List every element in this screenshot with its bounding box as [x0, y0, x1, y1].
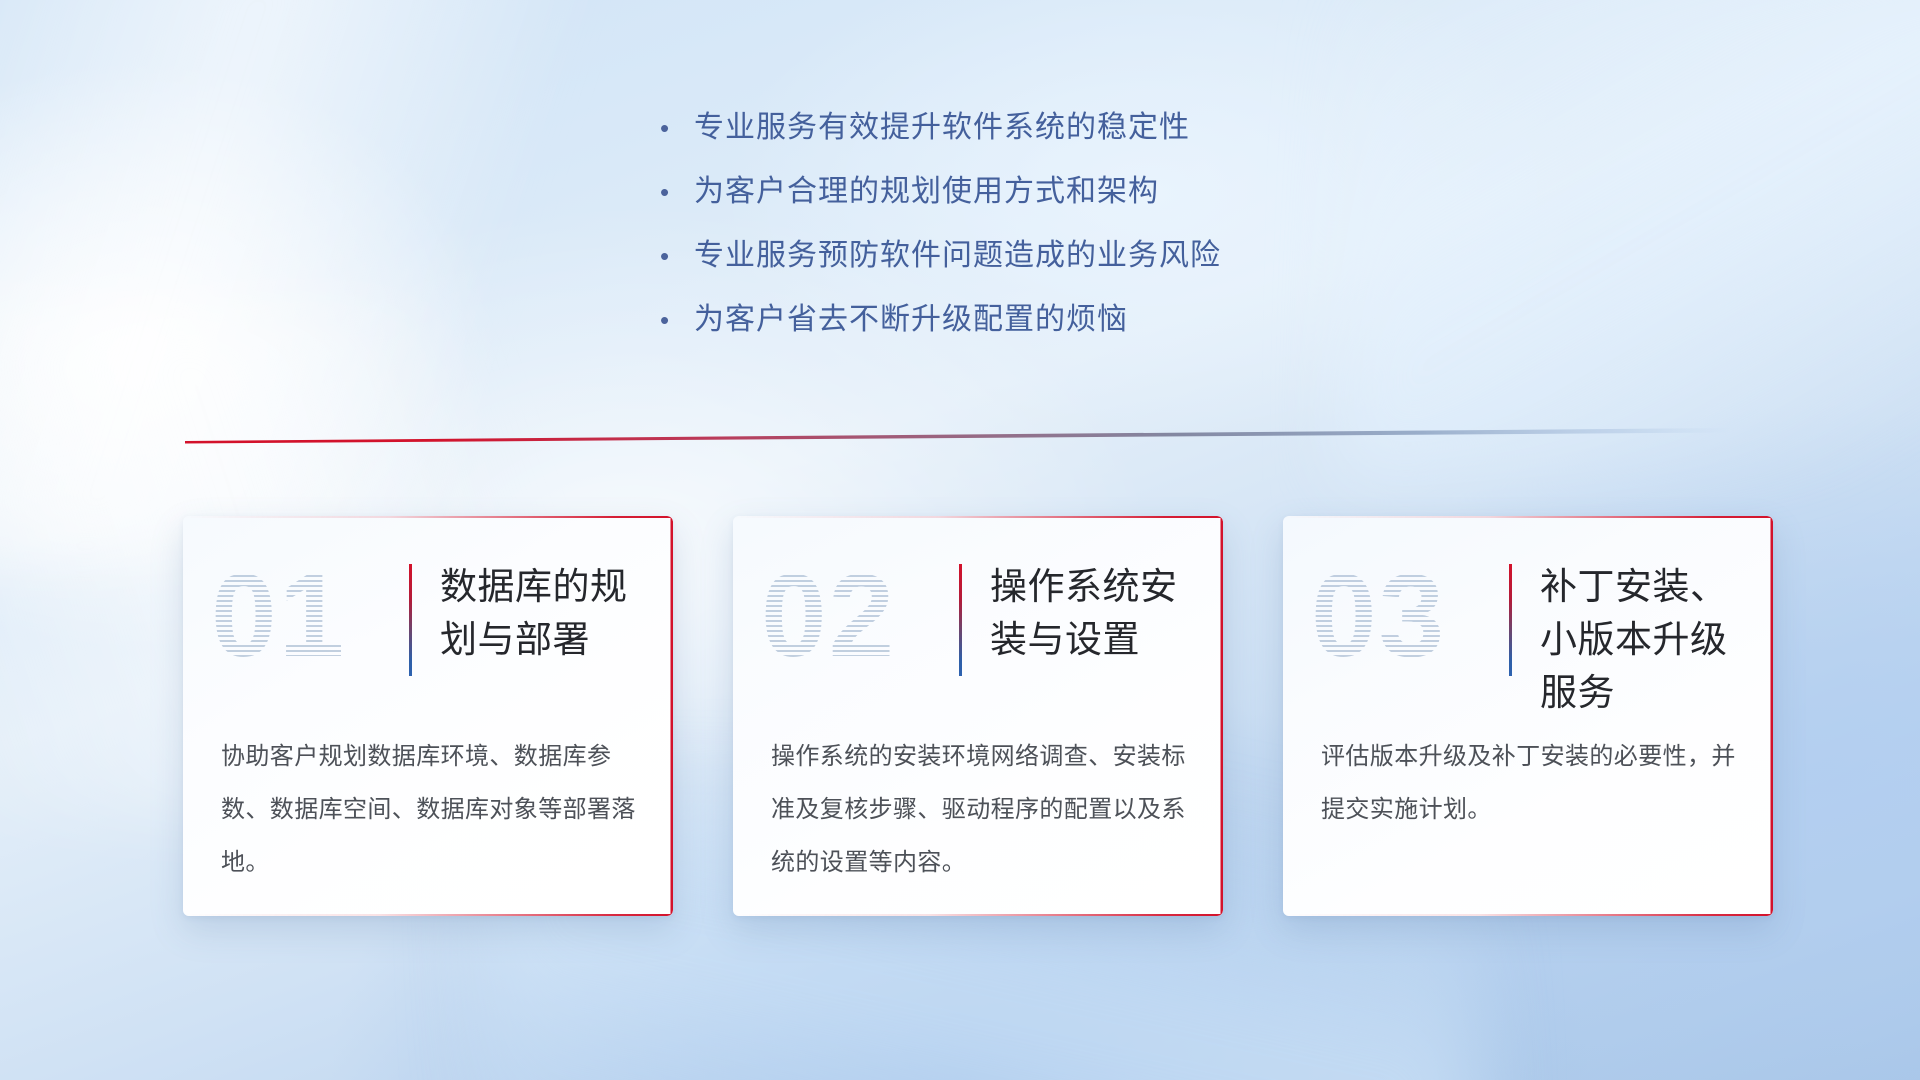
card-title: 数据库的规划与部署	[440, 560, 651, 666]
card-header: 02 操作系统安装与设置	[733, 516, 1223, 712]
service-card[interactable]: 03 补丁安装、小版本升级服务 评估版本升级及补丁安装的必要性，并提交实施计划。	[1283, 516, 1773, 916]
section-divider	[185, 424, 1730, 446]
service-card[interactable]: 02 操作系统安装与设置 操作系统的安装环境网络调查、安装标准及复核步骤、驱动程…	[733, 516, 1223, 916]
card-number-watermark: 03	[1311, 550, 1501, 682]
bullet-dot-icon: •	[660, 108, 694, 148]
service-card[interactable]: 01 数据库的规划与部署 协助客户规划数据库环境、数据库参数、数据库空间、数据库…	[183, 516, 673, 916]
list-item: • 为客户省去不断升级配置的烦恼	[660, 300, 1420, 364]
bullet-dot-icon: •	[660, 172, 694, 212]
bullet-text: 专业服务预防软件问题造成的业务风险	[694, 236, 1221, 276]
card-description: 协助客户规划数据库环境、数据库参数、数据库空间、数据库对象等部署落地。	[221, 730, 643, 889]
service-cards: 01 数据库的规划与部署 协助客户规划数据库环境、数据库参数、数据库空间、数据库…	[183, 516, 1773, 916]
bullet-text: 为客户省去不断升级配置的烦恼	[694, 300, 1128, 340]
list-item: • 专业服务有效提升软件系统的稳定性	[660, 108, 1420, 172]
list-item: • 为客户合理的规划使用方式和架构	[660, 172, 1420, 236]
card-title: 操作系统安装与设置	[990, 560, 1201, 666]
bullet-text: 为客户合理的规划使用方式和架构	[694, 172, 1159, 212]
bullet-text: 专业服务有效提升软件系统的稳定性	[694, 108, 1190, 148]
card-title-rule	[409, 564, 412, 676]
list-item: • 专业服务预防软件问题造成的业务风险	[660, 236, 1420, 300]
card-header: 03 补丁安装、小版本升级服务	[1283, 516, 1773, 712]
card-description: 操作系统的安装环境网络调查、安装标准及复核步骤、驱动程序的配置以及系统的设置等内…	[771, 730, 1193, 889]
card-title-rule	[959, 564, 962, 676]
section-divider-shape	[185, 424, 1730, 446]
card-header: 01 数据库的规划与部署	[183, 516, 673, 712]
bullet-dot-icon: •	[660, 236, 694, 276]
card-title-group: 补丁安装、小版本升级服务	[1509, 560, 1751, 719]
card-number-watermark: 02	[761, 550, 951, 682]
benefits-bullet-list: • 专业服务有效提升软件系统的稳定性 • 为客户合理的规划使用方式和架构 • 专…	[660, 108, 1420, 364]
card-description: 评估版本升级及补丁安装的必要性，并提交实施计划。	[1321, 730, 1743, 836]
card-title: 补丁安装、小版本升级服务	[1540, 560, 1751, 719]
background-light-streak-right	[1340, 0, 1920, 480]
card-title-group: 数据库的规划与部署	[409, 560, 651, 676]
card-title-rule	[1509, 564, 1512, 676]
card-number-watermark: 01	[211, 550, 401, 682]
card-title-group: 操作系统安装与设置	[959, 560, 1201, 676]
bullet-dot-icon: •	[660, 300, 694, 340]
